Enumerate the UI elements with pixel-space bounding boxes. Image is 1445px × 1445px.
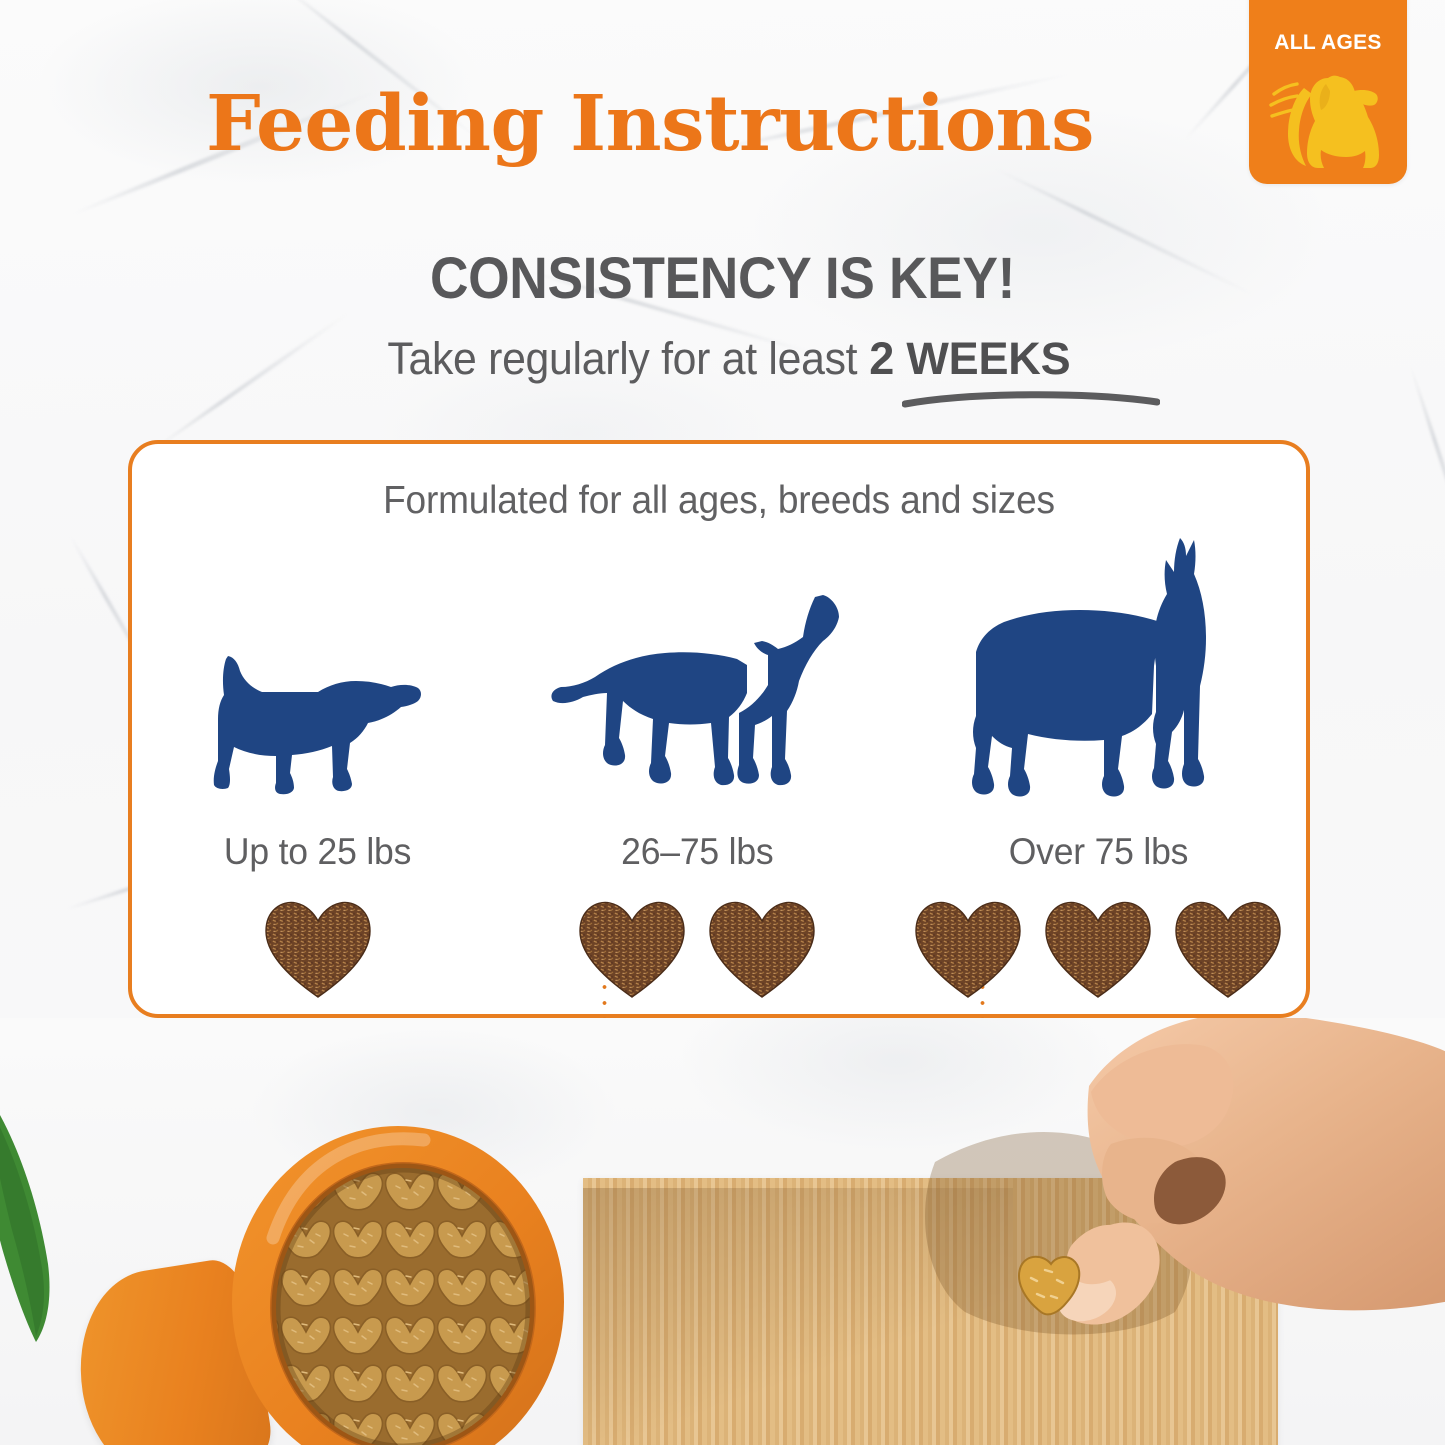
card-lead-text: Formulated for all ages, breeds and size…	[161, 479, 1276, 523]
heart-kibble-treat-icon	[258, 891, 378, 1003]
large-dog-silhouette-icon	[948, 536, 1248, 821]
serving-treats-large	[908, 891, 1288, 1003]
size-column-small: Up to 25 lbs	[132, 536, 504, 1022]
serving-treats-small	[258, 891, 378, 1003]
size-column-medium: 26–75 lbs	[504, 536, 890, 1022]
page-title: Feeding Instructions	[0, 86, 1300, 163]
size-columns: Up to 25 lbs	[132, 536, 1306, 1022]
tagline-prefix: Take regularly for at least	[387, 333, 857, 385]
all-ages-badge-label: ALL AGES	[1249, 31, 1407, 55]
hand-holding-treat	[875, 1018, 1445, 1402]
heart-kibble-treat-icon	[572, 891, 692, 1003]
orange-treat-container	[228, 1118, 568, 1445]
tagline-emphasis: 2 WEEKS	[869, 333, 1070, 385]
medium-dog-silhouette-icon	[547, 536, 847, 821]
serving-treats-medium	[572, 891, 822, 1003]
tagline-underline-swoosh	[902, 388, 1160, 408]
infographic-page: ALL AGES Feeding	[0, 0, 1445, 1445]
feeding-chart-card: Formulated for all ages, breeds and size…	[128, 440, 1310, 1018]
size-column-large: Over 75 lbs	[890, 536, 1306, 1022]
weight-label-medium: 26–75 lbs	[621, 831, 773, 873]
subtitle-heading: CONSISTENCY IS KEY!	[58, 245, 1387, 312]
tagline: Take regularly for at least 2 WEEKS	[0, 333, 1445, 385]
small-dog-silhouette-icon	[202, 536, 434, 821]
heart-kibble-treat-icon	[702, 891, 822, 1003]
product-photo	[0, 1018, 1445, 1445]
green-leaf	[0, 1078, 84, 1348]
heart-kibble-treat-icon	[1168, 891, 1288, 1003]
weight-label-large: Over 75 lbs	[1008, 831, 1188, 873]
heart-kibble-treat-icon	[1038, 891, 1158, 1003]
heart-kibble-treat-icon	[908, 891, 1028, 1003]
weight-label-small: Up to 25 lbs	[224, 831, 411, 873]
